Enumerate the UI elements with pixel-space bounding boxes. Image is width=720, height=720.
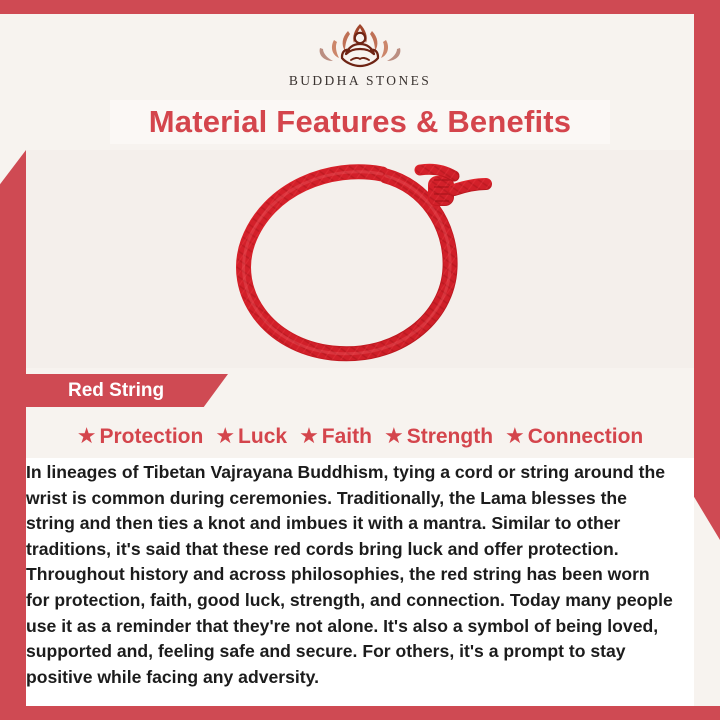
benefit-label: Faith: [322, 425, 372, 449]
description-panel: In lineages of Tibetan Vajrayana Buddhis…: [26, 458, 694, 706]
description-text: In lineages of Tibetan Vajrayana Buddhis…: [26, 460, 676, 690]
infographic-page: BUDDHA STONES Material Features & Benefi…: [0, 0, 720, 720]
material-label-banner: Red String: [26, 374, 228, 407]
page-title-band: Material Features & Benefits: [110, 100, 610, 144]
star-icon: ★: [215, 425, 235, 447]
benefit-label: Connection: [528, 425, 644, 449]
frame-left-border: [0, 150, 26, 720]
lotus-meditation-icon: [304, 18, 416, 72]
benefit-item: ★ Faith: [295, 425, 376, 449]
star-icon: ★: [505, 425, 525, 447]
benefit-item: ★ Strength: [380, 425, 497, 449]
star-icon: ★: [384, 425, 404, 447]
benefits-list: ★ Protection ★ Luck ★ Faith ★ Strength ★…: [26, 419, 694, 455]
star-icon: ★: [299, 425, 319, 447]
benefit-label: Protection: [99, 425, 203, 449]
frame-bottom-border: [0, 706, 720, 720]
benefit-item: ★ Connection: [501, 425, 647, 449]
benefit-item: ★ Luck: [211, 425, 291, 449]
benefit-item: ★ Protection: [73, 425, 208, 449]
brand-header: BUDDHA STONES: [0, 14, 720, 96]
benefit-label: Strength: [407, 425, 493, 449]
star-icon: ★: [77, 425, 97, 447]
material-label: Red String: [26, 380, 164, 402]
frame-top-border: [0, 0, 720, 14]
red-string-bracelet-image: [210, 150, 510, 368]
page-title: Material Features & Benefits: [149, 104, 572, 140]
product-hero-image: [26, 150, 694, 368]
brand-name: BUDDHA STONES: [289, 73, 431, 89]
benefit-label: Luck: [238, 425, 287, 449]
